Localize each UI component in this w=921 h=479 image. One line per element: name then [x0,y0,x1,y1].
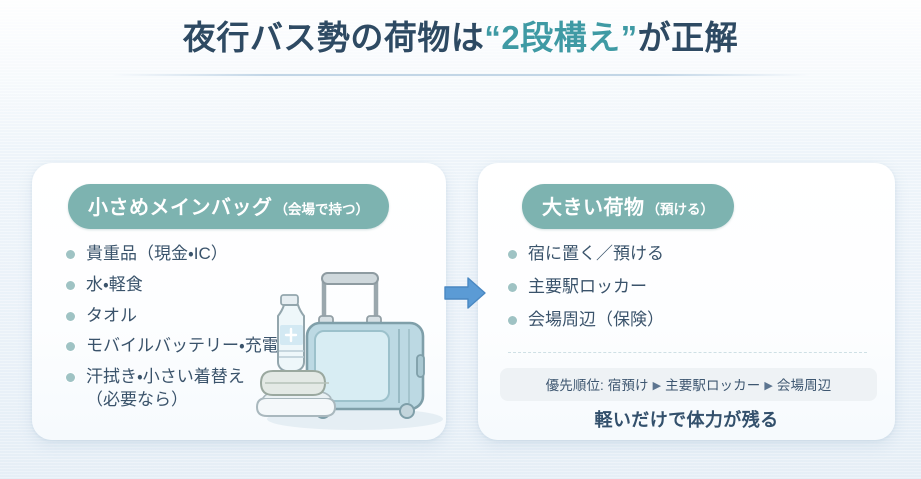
list-item-label: 水・軽食 [86,274,143,296]
left-card-header-sub: （会場で持つ） [275,198,370,218]
bullet-dot-icon [508,316,517,325]
right-arrow-icon [444,276,486,310]
priority-separator-icon-2: ▶ [764,380,773,392]
list-item-label-sub: （必要なら） [86,389,245,411]
priority-step-3: 会場周辺 [777,378,831,393]
list-item: タオル [66,305,446,327]
slide-canvas: 夜行バス勢の荷物は“2段構え”が正解 小さめメインバッグ（会場で持つ） 貴重品（… [0,0,921,479]
right-card: 大きい荷物（預ける） 宿に置く／預ける 主要駅ロッカー 会場周辺（保険） 優先順… [478,163,895,440]
priority-label: 優先順位: [546,378,604,393]
left-card: 小さめメインバッグ（会場で持つ） 貴重品（現金・IC） 水・軽食 タオル モバイ… [32,163,446,440]
list-item-label-main: 汗拭き・小さい着替え [86,367,245,386]
title-quote-open: “ [484,19,501,56]
priority-step-1: 宿預け [608,378,649,393]
list-item: 主要駅ロッカー [508,276,895,298]
title-divider [112,74,809,76]
list-item: 貴重品（現金・IC） [66,243,446,265]
right-card-header-row: 大きい荷物（預ける） [478,163,895,229]
bullet-dot-icon [66,342,75,351]
left-card-list: 貴重品（現金・IC） 水・軽食 タオル モバイルバッテリー・充電 汗拭き・小さい… [32,243,446,411]
priority-order-bar: 優先順位: 宿預け▶主要駅ロッカー▶会場周辺 [500,368,877,401]
list-item: 会場周辺（保険） [508,309,895,331]
list-item: 水・軽食 [66,274,446,296]
page-title: 夜行バス勢の荷物は“2段構え”が正解 [0,18,921,58]
list-item: 宿に置く／預ける [508,243,895,265]
bullet-dot-icon [66,312,75,321]
priority-separator-icon-1: ▶ [653,380,662,392]
title-accent: 2段構え [501,19,620,56]
title-quote-close: ” [621,19,638,56]
bullet-dot-icon [66,281,75,290]
list-item-label: 貴重品（現金・IC） [86,243,228,265]
title-text: 夜行バス勢の荷物は“2段構え”が正解 [0,18,921,58]
priority-step-2: 主要駅ロッカー [665,378,760,393]
list-item: モバイルバッテリー・充電 [66,335,446,357]
bullet-dot-icon [508,250,517,259]
right-card-header-main: 大きい荷物 [542,191,645,220]
left-card-header-pill: 小さめメインバッグ（会場で持つ） [68,184,389,229]
title-prefix: 夜行バス勢の荷物は [183,19,485,56]
right-card-header-sub: （預ける） [647,198,715,218]
list-item-label: 汗拭き・小さい着替え（必要なら） [86,366,245,411]
right-card-list: 宿に置く／預ける 主要駅ロッカー 会場周辺（保険） [478,243,895,330]
right-card-tagline: 軽いだけで体力が残る [478,406,895,432]
left-card-header-main: 小さめメインバッグ [88,191,273,220]
left-card-header-row: 小さめメインバッグ（会場で持つ） [32,163,446,229]
bullet-dot-icon [66,250,75,259]
list-item-label: 宿に置く／預ける [528,243,664,265]
right-card-divider [508,352,867,353]
bullet-dot-icon [66,373,75,382]
list-item-label: タオル [86,305,137,327]
right-card-header-pill: 大きい荷物（預ける） [522,184,734,229]
bullet-dot-icon [508,283,517,292]
title-suffix: が正解 [638,19,739,56]
list-item-label: 会場周辺（保険） [528,309,664,331]
list-item: 汗拭き・小さい着替え（必要なら） [66,366,446,411]
list-item-label: 主要駅ロッカー [528,276,647,298]
list-item-label: モバイルバッテリー・充電 [86,335,279,357]
